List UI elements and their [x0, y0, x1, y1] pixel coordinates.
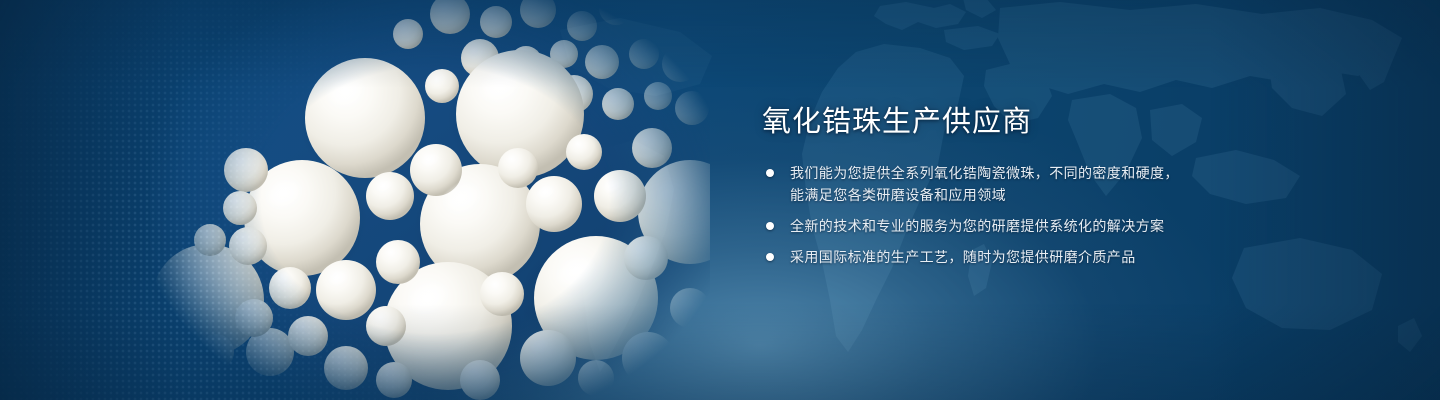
list-item: 我们能为您提供全系列氧化锆陶瓷微珠，不同的密度和硬度， 能满足您各类研磨设备和应… — [762, 162, 1232, 206]
bullet-dot-icon — [766, 222, 774, 230]
page-title: 氧化锆珠生产供应商 — [762, 104, 1232, 140]
list-item: 采用国际标准的生产工艺，随时为您提供研磨介质产品 — [762, 246, 1232, 268]
bullet-dot-icon — [766, 169, 774, 177]
bullet-text-line: 采用国际标准的生产工艺，随时为您提供研磨介质产品 — [790, 246, 1232, 268]
bullet-text-line: 能满足您各类研磨设备和应用领域 — [790, 184, 1232, 206]
bullet-text-line: 我们能为您提供全系列氧化锆陶瓷微珠，不同的密度和硬度， — [790, 162, 1232, 184]
hero-banner: 氧化锆珠生产供应商 我们能为您提供全系列氧化锆陶瓷微珠，不同的密度和硬度， 能满… — [0, 0, 1440, 400]
bullet-text-line: 全新的技术和专业的服务为您的研磨提供系统化的解决方案 — [790, 215, 1232, 237]
banner-copy: 氧化锆珠生产供应商 我们能为您提供全系列氧化锆陶瓷微珠，不同的密度和硬度， 能满… — [762, 104, 1232, 268]
feature-bullet-list: 我们能为您提供全系列氧化锆陶瓷微珠，不同的密度和硬度， 能满足您各类研磨设备和应… — [762, 162, 1232, 268]
zirconia-beads-photo — [150, 0, 710, 400]
list-item: 全新的技术和专业的服务为您的研磨提供系统化的解决方案 — [762, 215, 1232, 237]
bullet-dot-icon — [766, 253, 774, 261]
